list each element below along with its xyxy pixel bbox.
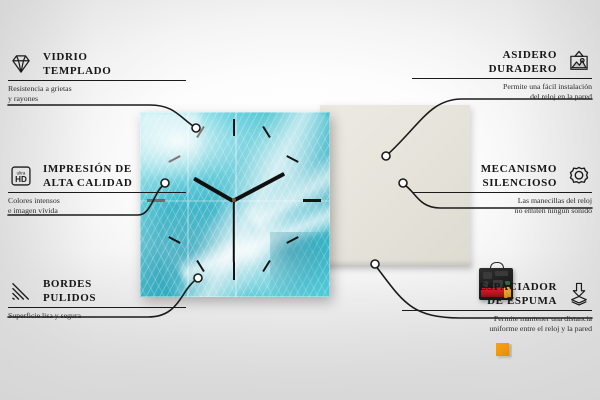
callout-title-line2: TEMPLADO <box>43 64 111 78</box>
callout-rule <box>8 307 186 308</box>
callout-title-line2: PULIDOS <box>43 291 96 305</box>
callout-desc-line2: uniforme entre el reloj y la pared <box>402 324 592 334</box>
callout-espaciador-de-espuma[interactable]: ESPACIADOR DE ESPUMA Permite mantener un… <box>402 280 592 334</box>
diamond-icon <box>8 51 34 77</box>
ultra-hd-icon: ultra HD <box>8 163 34 189</box>
callout-asidero-duradero[interactable]: ASIDERO DURADERO Permite una fácil insta… <box>412 48 592 102</box>
callout-desc-line1: Resistencia a grietas <box>8 84 188 94</box>
polished-edge-icon <box>8 278 34 304</box>
foam-spacer-icon <box>566 281 592 307</box>
callout-title-line1: VIDRIO <box>43 50 111 64</box>
callout-desc-line2: y rayones <box>8 94 188 104</box>
callout-title-line2: DE ESPUMA <box>479 294 557 308</box>
foam-spacer <box>496 343 509 356</box>
gear-icon <box>566 163 592 189</box>
callout-title-line2: DURADERO <box>489 62 557 76</box>
callout-desc-line2: del reloj en la pared <box>412 92 592 102</box>
callout-title-line1: BORDES <box>43 277 96 291</box>
callout-desc-line1: Las manecillas del reloj <box>412 196 592 206</box>
callout-desc-line1: Colores intensos <box>8 196 188 206</box>
wall-panel-shadow <box>322 263 472 272</box>
callout-desc-line2: e imagen vívida <box>8 206 188 216</box>
callout-rule <box>412 78 592 79</box>
callout-title-line1: IMPRESIÓN DE <box>43 162 132 176</box>
callout-desc-line1: Permite mantener una distancia <box>402 314 592 324</box>
callout-desc-line1: Superficie lisa y segura <box>8 311 188 321</box>
callout-rule <box>8 80 186 81</box>
infographic-canvas: VIDRIO TEMPLADO Resistencia a grietas y … <box>0 0 600 400</box>
callout-rule <box>412 192 592 193</box>
callout-rule <box>402 310 592 311</box>
callout-title-line1: MECANISMO <box>481 162 557 176</box>
ultra-hd-icon-text-bottom: HD <box>15 175 27 184</box>
callout-mecanismo-silencioso[interactable]: MECANISMO SILENCIOSO Las manecillas del … <box>412 162 592 216</box>
callout-desc-line2: no emiten ningún sonido <box>412 206 592 216</box>
callout-bordes-pulidos[interactable]: BORDES PULIDOS Superficie lisa y segura <box>8 277 188 321</box>
picture-hanger-icon <box>566 49 592 75</box>
callout-vidrio-templado[interactable]: VIDRIO TEMPLADO Resistencia a grietas y … <box>8 50 188 104</box>
callout-title-line1: ESPACIADOR <box>479 280 557 294</box>
callout-impresion-alta-calidad[interactable]: ultra HD IMPRESIÓN DE ALTA CALIDAD Color… <box>8 162 188 216</box>
foam-spacer-side <box>509 344 512 357</box>
callout-title-line2: SILENCIOSO <box>481 176 557 190</box>
callout-title-line1: ASIDERO <box>489 48 557 62</box>
callout-desc-line1: Permite una fácil instalación <box>412 82 592 92</box>
callout-rule <box>8 192 186 193</box>
callout-title-line2: ALTA CALIDAD <box>43 176 132 190</box>
